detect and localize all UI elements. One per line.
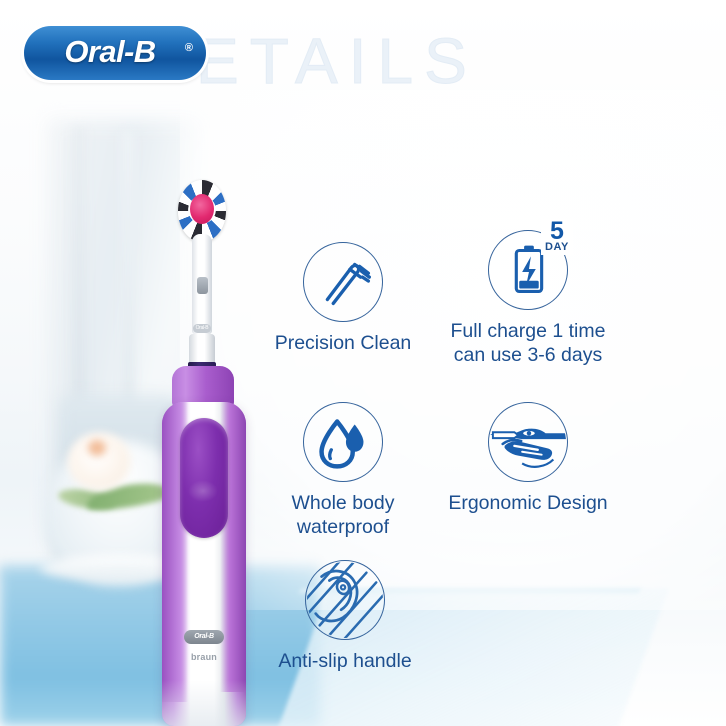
- feature-precision-clean: Precision Clean: [252, 242, 434, 355]
- battery-day-unit: DAY: [545, 242, 569, 253]
- background-flower-center: [88, 440, 106, 456]
- water-droplet-icon-svg: [304, 403, 382, 481]
- hand-grip-icon: [488, 402, 568, 482]
- feature-label-line: Whole body: [262, 491, 424, 515]
- brush-collar: [189, 334, 215, 364]
- brush-power-button[interactable]: [180, 418, 228, 538]
- oral-b-logo-text: Oral-B: [64, 34, 155, 70]
- feature-label: Whole body waterproof: [262, 491, 424, 539]
- brush-neck-connector: [197, 277, 208, 294]
- brush-body-logo: Oral-B: [184, 630, 224, 644]
- brush-braun-logo: braun: [184, 652, 224, 662]
- grip-lines-icon-svg: [306, 561, 384, 639]
- battery-day-badge: 5 DAY: [541, 219, 573, 255]
- feature-waterproof: Whole body waterproof: [262, 402, 424, 539]
- battery-charge-icon: 5 DAY: [488, 230, 568, 310]
- feature-label-line: waterproof: [262, 515, 424, 539]
- battery-day-number: 5: [545, 220, 569, 242]
- feature-label-line: Ergonomic Design: [432, 491, 624, 515]
- product-detail-page: ETAILS Oral-B ® Oral-B Oral-B braun: [0, 0, 726, 726]
- hand-grip-icon-svg: [489, 403, 567, 481]
- toothbrush-icon: [303, 242, 383, 322]
- feature-label: Precision Clean: [252, 331, 434, 355]
- feature-label-line: Precision Clean: [252, 331, 434, 355]
- feature-anti-slip-handle: Anti-slip handle: [262, 560, 428, 673]
- brush-neck-logo: Oral-B: [193, 324, 211, 333]
- feature-label-line: Full charge 1 time: [428, 319, 628, 343]
- registered-trademark-icon: ®: [185, 42, 193, 54]
- feature-ergonomic-design: Ergonomic Design: [432, 402, 624, 515]
- brush-body-base: [162, 680, 246, 726]
- grip-lines-icon: [305, 560, 385, 640]
- oral-b-logo: Oral-B ®: [24, 26, 206, 80]
- brush-power-button-highlight: [188, 480, 218, 502]
- toothbrush-icon-svg: [304, 243, 382, 321]
- water-droplet-icon: [303, 402, 383, 482]
- feature-label: Full charge 1 time can use 3-6 days: [428, 319, 628, 367]
- feature-label-line: can use 3-6 days: [428, 343, 628, 367]
- feature-label-line: Anti-slip handle: [262, 649, 428, 673]
- brush-head-center: [190, 194, 214, 224]
- feature-battery-life: 5 DAY Full charge 1 time can use 3-6 day…: [428, 230, 628, 367]
- watermark-text: ETAILS: [196, 24, 478, 98]
- feature-label: Ergonomic Design: [432, 491, 624, 515]
- feature-label: Anti-slip handle: [262, 649, 428, 673]
